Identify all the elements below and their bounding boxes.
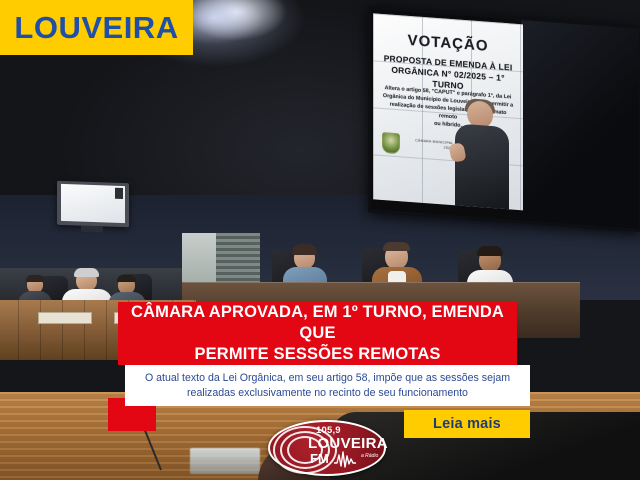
city-logo-label: LOUVEIRA [14,10,178,46]
subtitle-line-2: realizadas exclusivamente no recinto de … [187,387,468,399]
water-cups [190,448,260,474]
news-card: VOTAÇÃO PROPOSTA DE EMENDA À LEI ORGÂNIC… [0,0,640,480]
screen-slide: VOTAÇÃO PROPOSTA DE EMENDA À LEI ORGÂNIC… [373,13,523,210]
radio-station-logo[interactable]: 105,9 LOUVEIRA FM a Rádio [268,420,386,476]
city-logo-badge: LOUVEIRA [0,0,193,55]
headline-text: CÂMARA APROVADA, EM 1º TURNO, EMENDA QUE… [118,302,517,365]
chamber-photo: VOTAÇÃO PROPOSTA DE EMENDA À LEI ORGÂNIC… [0,0,640,480]
headline-banner: CÂMARA APROVADA, EM 1º TURNO, EMENDA QUE… [118,302,517,365]
radio-band-label: FM [310,451,329,466]
headline-line-2: PERMITE SESSÕES REMOTAS [194,345,440,363]
monitor-icon [57,181,129,228]
read-more-label: Leia mais [433,416,501,432]
subtitle-box: O atual texto da Lei Orgânica, em seu ar… [125,365,530,406]
read-more-button[interactable]: Leia mais [404,410,530,438]
sign-language-interpreter-icon [451,99,523,210]
headline-line-1: CÂMARA APROVADA, EM 1º TURNO, EMENDA QUE [131,303,504,342]
nameplate [38,312,92,324]
subtitle-line-1: O atual texto da Lei Orgânica, em seu ar… [145,372,510,384]
subtitle-text: O atual texto da Lei Orgânica, em seu ar… [139,371,516,401]
screen-dark-half [521,20,639,229]
radio-tagline: a Rádio [361,453,378,459]
presentation-screen: VOTAÇÃO PROPOSTA DE EMENDA À LEI ORGÂNIC… [368,6,640,232]
